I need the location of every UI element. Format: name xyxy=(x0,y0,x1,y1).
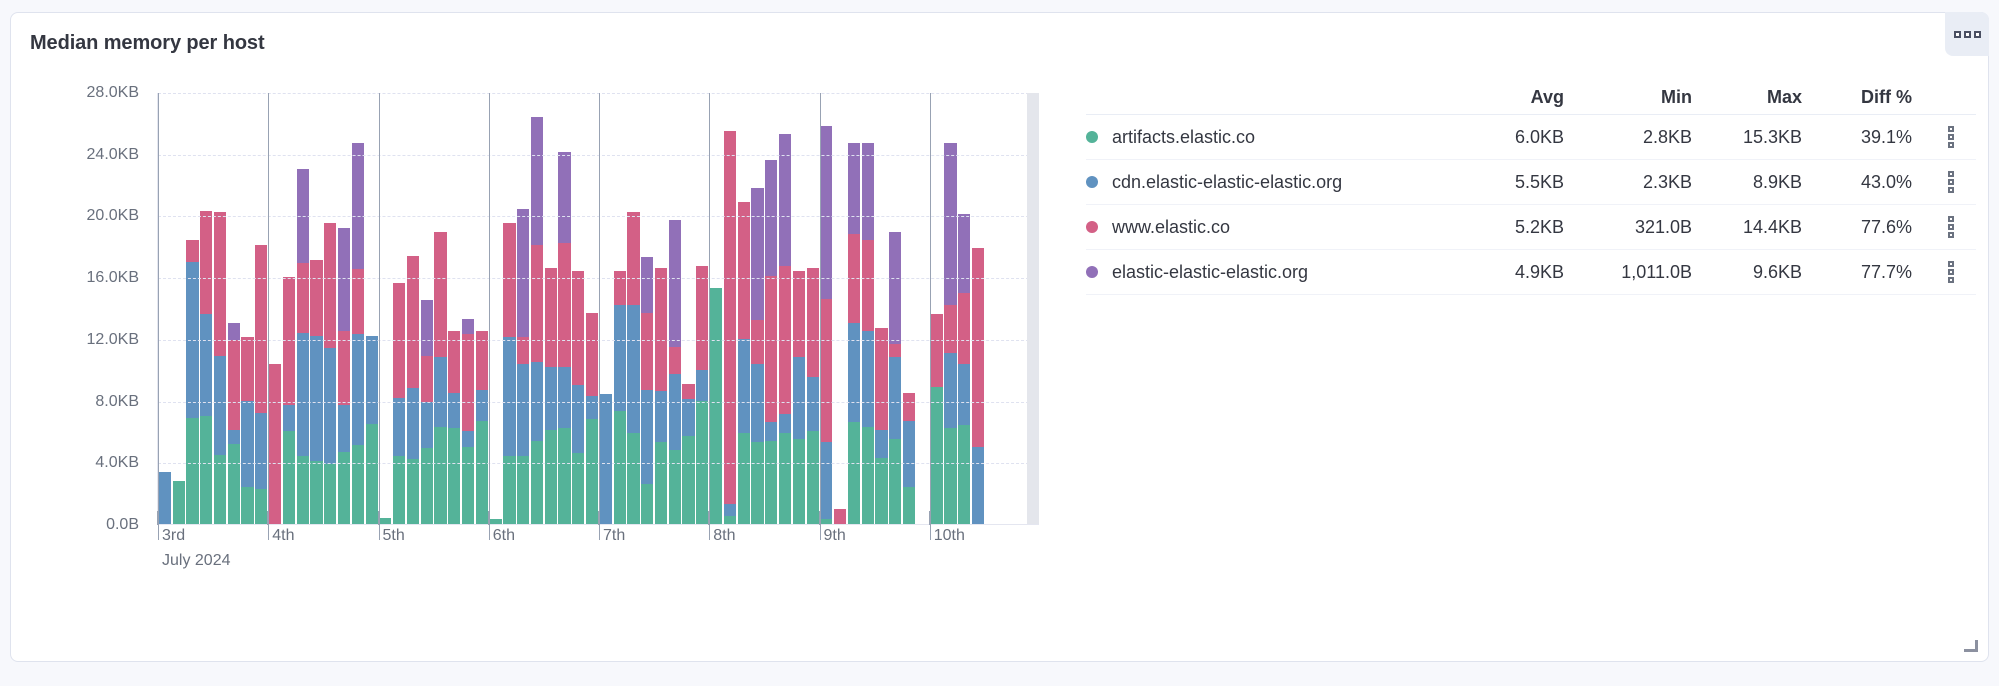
x-axis-tick-mark xyxy=(819,511,820,525)
drag-handle-dot xyxy=(1948,216,1954,222)
bar-segment xyxy=(200,211,212,314)
legend-avg-value: 5.2KB xyxy=(1458,217,1568,238)
bar-segment xyxy=(186,418,198,524)
bar-segment xyxy=(241,487,253,524)
bar[interactable] xyxy=(476,331,488,524)
y-axis-tick-label: 24.0KB xyxy=(87,146,139,164)
bar-segment xyxy=(545,430,557,524)
bar-segment xyxy=(655,391,667,442)
bar-segment xyxy=(421,448,433,524)
plot-area[interactable] xyxy=(157,93,1039,525)
bar-segment xyxy=(627,433,639,524)
bar[interactable] xyxy=(903,393,915,524)
bar-segment xyxy=(214,455,226,524)
bar-segment xyxy=(297,456,309,524)
bar-segment xyxy=(641,390,653,484)
legend-max-value: 8.9KB xyxy=(1696,172,1806,193)
bar-segment xyxy=(324,348,336,464)
bar[interactable] xyxy=(352,143,364,524)
x-axis-tick-label: 7th xyxy=(598,527,625,545)
legend-series-name-cell[interactable]: artifacts.elastic.co xyxy=(1086,127,1458,148)
bar[interactable] xyxy=(572,271,584,524)
x-axis-tick-label: 5th xyxy=(378,527,405,545)
bar-segment xyxy=(586,396,598,419)
legend-color-dot xyxy=(1086,176,1098,188)
bar-segment xyxy=(641,313,653,390)
legend-diff-value: 39.1% xyxy=(1806,127,1916,148)
bar[interactable] xyxy=(627,212,639,524)
bar[interactable] xyxy=(366,336,378,524)
legend-min-value: 1,011.0B xyxy=(1568,262,1696,283)
bar-segment xyxy=(269,364,281,524)
drag-handle-dot xyxy=(1948,224,1954,230)
drag-handle-dot xyxy=(1948,171,1954,177)
bar-segment xyxy=(407,256,419,389)
day-separator xyxy=(158,93,159,540)
bar[interactable] xyxy=(393,283,405,524)
bar-segment xyxy=(958,293,970,364)
bar-segment xyxy=(931,387,943,524)
bar-segment xyxy=(738,433,750,524)
bar-segment xyxy=(531,441,543,524)
bar-segment xyxy=(186,240,198,262)
legend-series-name-cell[interactable]: cdn.elastic-elastic-elastic.org xyxy=(1086,172,1458,193)
day-separator xyxy=(268,93,269,540)
drag-handle-icon[interactable] xyxy=(1948,171,1954,193)
day-separator xyxy=(379,93,380,540)
bar-segment xyxy=(517,337,529,363)
bar[interactable] xyxy=(517,209,529,524)
legend-diff-value: 43.0% xyxy=(1806,172,1916,193)
panel-context-menu-button[interactable] xyxy=(1945,12,1989,56)
bar-segment xyxy=(958,364,970,426)
legend-grip-cell[interactable] xyxy=(1916,261,1986,283)
legend-grip-cell[interactable] xyxy=(1916,216,1986,238)
bar-segment xyxy=(476,390,488,421)
legend-series-label: artifacts.elastic.co xyxy=(1112,127,1255,148)
bar-segment xyxy=(820,519,832,524)
legend-color-dot xyxy=(1086,266,1098,278)
legend-header-min[interactable]: Min xyxy=(1568,87,1696,108)
bar[interactable] xyxy=(875,328,887,524)
bar[interactable] xyxy=(848,143,860,524)
legend-min-value: 321.0B xyxy=(1568,217,1696,238)
bar-segment xyxy=(572,385,584,453)
bar[interactable] xyxy=(931,314,943,524)
bar-segment xyxy=(696,401,708,524)
legend-row[interactable]: artifacts.elastic.co6.0KB2.8KB15.3KB39.1… xyxy=(1086,115,1976,160)
chart-container[interactable]: 28.0KB24.0KB20.0KB16.0KB12.0KB8.0KB4.0KB… xyxy=(29,65,1079,635)
bar[interactable] xyxy=(944,143,956,524)
bar-segment xyxy=(696,370,708,401)
bar[interactable] xyxy=(324,223,336,524)
bar-segment xyxy=(614,305,626,411)
legend-header-avg[interactable]: Avg xyxy=(1458,87,1568,108)
bar-segment xyxy=(669,220,681,347)
bar-segment xyxy=(531,117,543,245)
bar[interactable] xyxy=(255,245,267,524)
bar-segment xyxy=(944,428,956,524)
x-axis-tick-mark xyxy=(929,511,930,525)
bar-segment xyxy=(682,436,694,524)
bar[interactable] xyxy=(724,131,736,524)
bar-segment xyxy=(724,516,736,524)
x-axis-tick-label: 4th xyxy=(267,527,294,545)
bar-segment xyxy=(682,384,694,399)
x-axis-tick-label: 10th xyxy=(929,527,965,545)
visualization-panel: Median memory per host 28.0KB24.0KB20.0K… xyxy=(10,12,1989,662)
bar-segment xyxy=(614,271,626,305)
bar-segment xyxy=(751,320,763,363)
bar-segment xyxy=(848,323,860,422)
bar-segment xyxy=(724,131,736,504)
bar-segment xyxy=(807,268,819,378)
y-axis-tick-label: 12.0KB xyxy=(87,331,139,349)
bar-segment xyxy=(558,152,570,243)
bar-segment xyxy=(159,472,171,524)
bar-segment xyxy=(793,271,805,357)
legend-row[interactable]: www.elastic.co5.2KB321.0B14.4KB77.6% xyxy=(1086,205,1976,250)
legend-series-label: cdn.elastic-elastic-elastic.org xyxy=(1112,172,1342,193)
bar-segment xyxy=(558,428,570,524)
drag-handle-dot xyxy=(1948,187,1954,193)
x-axis-tick-mark xyxy=(598,511,599,525)
bar[interactable] xyxy=(490,519,502,524)
bar-segment xyxy=(200,416,212,524)
legend-series-label: elastic-elastic-elastic.org xyxy=(1112,262,1308,283)
ellipsis-horizontal-icon xyxy=(1974,31,1981,38)
y-axis-tick-label: 20.0KB xyxy=(87,207,139,225)
legend-grip-cell[interactable] xyxy=(1916,171,1986,193)
bar[interactable] xyxy=(407,256,419,524)
bar-segment xyxy=(958,425,970,524)
day-separator xyxy=(489,93,490,540)
legend-header-max[interactable]: Max xyxy=(1696,87,1806,108)
bar[interactable] xyxy=(807,268,819,524)
bar-segment xyxy=(324,464,336,524)
bar[interactable] xyxy=(779,134,791,524)
bar-segment xyxy=(503,456,515,524)
bar-segment xyxy=(283,431,295,524)
bar-segment xyxy=(421,356,433,402)
bar-segment xyxy=(228,340,240,429)
bar-segment xyxy=(393,398,405,457)
bar[interactable] xyxy=(297,169,309,524)
x-axis-tick-mark xyxy=(267,511,268,525)
bar[interactable] xyxy=(958,214,970,524)
day-separator xyxy=(599,93,600,540)
bar[interactable] xyxy=(696,266,708,524)
day-separator xyxy=(930,93,931,540)
y-axis-tick-label: 4.0KB xyxy=(95,454,139,472)
bar[interactable] xyxy=(448,331,460,524)
x-axis-tick-label: 8th xyxy=(708,527,735,545)
legend-max-value: 15.3KB xyxy=(1696,127,1806,148)
bar-segment xyxy=(586,419,598,524)
bar-segment xyxy=(297,333,309,456)
bar-segment xyxy=(338,228,350,331)
bar-segment xyxy=(696,266,708,369)
bar[interactable] xyxy=(820,126,832,524)
bar-segment xyxy=(793,439,805,524)
bar[interactable] xyxy=(186,240,198,524)
bar[interactable] xyxy=(641,257,653,524)
bar-segment xyxy=(669,374,681,450)
bar-segment xyxy=(765,441,777,524)
legend-rows: artifacts.elastic.co6.0KB2.8KB15.3KB39.1… xyxy=(1086,115,1976,295)
bar-segment xyxy=(751,442,763,524)
legend-row[interactable]: elastic-elastic-elastic.org4.9KB1,011.0B… xyxy=(1086,250,1976,295)
bar-segment xyxy=(669,450,681,524)
bar-segment xyxy=(310,461,322,524)
x-axis-title: July 2024 xyxy=(157,552,231,570)
bar-segment xyxy=(972,447,984,524)
bar-segment xyxy=(765,276,777,423)
legend-diff-value: 77.6% xyxy=(1806,217,1916,238)
bar-segment xyxy=(366,336,378,424)
drag-handle-dot xyxy=(1948,277,1954,283)
drag-handle-dot xyxy=(1948,261,1954,267)
bar-segment xyxy=(255,413,267,489)
bar-segment xyxy=(820,126,832,299)
bar-segment xyxy=(476,421,488,524)
x-axis-tick-label: 3rd xyxy=(157,527,185,545)
drag-handle-icon[interactable] xyxy=(1948,261,1954,283)
bar[interactable] xyxy=(793,271,805,524)
bar-segment xyxy=(655,268,667,391)
bar-segment xyxy=(820,299,832,442)
bar-segment xyxy=(779,134,791,267)
bar-segment xyxy=(531,245,543,362)
bar-segment xyxy=(903,487,915,524)
bar-segment xyxy=(586,313,598,396)
bar-segment xyxy=(517,364,529,457)
legend-color-dot xyxy=(1086,131,1098,143)
dashboard-panel-root: Median memory per host 28.0KB24.0KB20.0K… xyxy=(0,0,1999,686)
bar-segment xyxy=(862,427,874,524)
bar-segment xyxy=(779,414,791,433)
bar[interactable] xyxy=(214,212,226,524)
bar-segment xyxy=(903,393,915,421)
bar[interactable] xyxy=(228,323,240,524)
panel-resize-handle[interactable] xyxy=(1964,638,1978,652)
bar-segment xyxy=(448,393,460,428)
drag-handle-dot xyxy=(1948,232,1954,238)
bar-segment xyxy=(434,427,446,524)
x-axis: July 2024 3rd4th5th6th7th8th9th10th xyxy=(157,525,1039,585)
bar[interactable] xyxy=(379,518,391,524)
ellipsis-horizontal-icon xyxy=(1964,31,1971,38)
y-axis-tick-label: 8.0KB xyxy=(95,393,139,411)
drag-handle-icon[interactable] xyxy=(1948,216,1954,238)
bar[interactable] xyxy=(682,384,694,524)
bar-segment xyxy=(324,223,336,348)
y-axis-tick-label: 16.0KB xyxy=(87,269,139,287)
day-separator xyxy=(709,93,710,540)
bar-segment xyxy=(255,245,267,413)
bar-segment xyxy=(875,458,887,524)
bar[interactable] xyxy=(434,232,446,524)
bar-segment xyxy=(297,263,309,332)
legend-avg-value: 5.5KB xyxy=(1458,172,1568,193)
bar-segment xyxy=(352,334,364,445)
bar-segment xyxy=(241,337,253,400)
y-axis-tick-label: 28.0KB xyxy=(87,84,139,102)
bar-segment xyxy=(807,431,819,524)
panel-header: Median memory per host xyxy=(11,13,1988,65)
bar[interactable] xyxy=(765,160,777,524)
legend-min-value: 2.3KB xyxy=(1568,172,1696,193)
y-axis: 28.0KB24.0KB20.0KB16.0KB12.0KB8.0KB4.0KB… xyxy=(29,65,147,565)
bar-segment xyxy=(214,356,226,455)
x-axis-tick-mark xyxy=(488,511,489,525)
ellipsis-horizontal-icon xyxy=(1954,31,1961,38)
bar-segment xyxy=(572,271,584,385)
partial-bucket-overlay xyxy=(1027,93,1039,524)
legend-avg-value: 4.9KB xyxy=(1458,262,1568,283)
legend-max-value: 14.4KB xyxy=(1696,217,1806,238)
bar-segment xyxy=(765,160,777,276)
bar-segment xyxy=(944,143,956,305)
drag-handle-dot xyxy=(1948,142,1954,148)
bar-segment xyxy=(255,489,267,524)
legend-series-name-cell[interactable]: www.elastic.co xyxy=(1086,217,1458,238)
bar-segment xyxy=(820,442,832,519)
drag-handle-dot xyxy=(1948,269,1954,275)
bar-segment xyxy=(421,402,433,448)
bar-segment xyxy=(462,431,474,446)
bar[interactable] xyxy=(269,364,281,524)
bar-segment xyxy=(862,331,874,427)
bar-segment xyxy=(503,223,515,337)
legend-diff-value: 77.7% xyxy=(1806,262,1916,283)
y-axis-tick-label: 0.0B xyxy=(106,516,139,534)
bar[interactable] xyxy=(862,143,874,524)
x-axis-tick-mark xyxy=(378,511,379,525)
bar-segment xyxy=(558,243,570,366)
bar[interactable] xyxy=(972,248,984,524)
legend-row[interactable]: cdn.elastic-elastic-elastic.org5.5KB2.3K… xyxy=(1086,160,1976,205)
bar-segment xyxy=(862,240,874,331)
bar[interactable] xyxy=(586,313,598,524)
legend-series-name-cell[interactable]: elastic-elastic-elastic.org xyxy=(1086,262,1458,283)
bar-segment xyxy=(214,212,226,355)
bar-segment xyxy=(779,433,791,524)
bar-segment xyxy=(448,428,460,524)
bar-segment xyxy=(434,232,446,357)
bar-segment xyxy=(627,212,639,305)
bar-segment xyxy=(710,288,722,524)
bar-segment xyxy=(862,143,874,240)
bar[interactable] xyxy=(614,271,626,524)
bar-segment xyxy=(228,430,240,444)
bar[interactable] xyxy=(421,300,433,524)
bar[interactable] xyxy=(503,223,515,524)
bar[interactable] xyxy=(655,268,667,524)
bar[interactable] xyxy=(710,288,722,524)
bar-segment xyxy=(490,519,502,524)
bar[interactable] xyxy=(751,188,763,524)
bar-segment xyxy=(669,347,681,375)
bar-segment xyxy=(283,405,295,431)
bar-segment xyxy=(310,260,322,336)
bar-segment xyxy=(875,328,887,430)
bar-segment xyxy=(434,357,446,426)
bar-segment xyxy=(283,277,295,405)
bar-segment xyxy=(641,257,653,313)
legend-series-label: www.elastic.co xyxy=(1112,217,1230,238)
bar-segment xyxy=(738,339,750,433)
bar-segment xyxy=(545,367,557,430)
bar-segment xyxy=(228,444,240,524)
bar-segment xyxy=(682,399,694,436)
bar-segment xyxy=(338,331,350,405)
legend-min-value: 2.8KB xyxy=(1568,127,1696,148)
bar-segment xyxy=(517,456,529,524)
bar-segment xyxy=(627,305,639,433)
bar-segment xyxy=(407,459,419,524)
bar[interactable] xyxy=(310,260,322,524)
bar-segment xyxy=(889,232,901,343)
bar-segment xyxy=(241,401,253,487)
bar-segment xyxy=(751,364,763,443)
legend-avg-value: 6.0KB xyxy=(1458,127,1568,148)
bar-segment xyxy=(793,357,805,439)
drag-handle-dot xyxy=(1948,134,1954,140)
bar[interactable] xyxy=(241,337,253,524)
bar-segment xyxy=(310,336,322,461)
bar-segment xyxy=(848,422,860,524)
bar[interactable] xyxy=(889,232,901,524)
bar-segment xyxy=(958,214,970,293)
bar[interactable] xyxy=(545,268,557,524)
bar[interactable] xyxy=(600,394,612,524)
bar-segment xyxy=(338,405,350,451)
bar-segment xyxy=(379,518,391,524)
bar-segment xyxy=(352,143,364,270)
bar[interactable] xyxy=(173,481,185,524)
bar-segment xyxy=(724,504,736,516)
legend-color-dot xyxy=(1086,221,1098,233)
legend-grip-cell[interactable] xyxy=(1916,126,1986,148)
bar[interactable] xyxy=(338,228,350,524)
legend-header-diff[interactable]: Diff % xyxy=(1806,87,1916,108)
bar[interactable] xyxy=(738,202,750,524)
bar[interactable] xyxy=(462,319,474,524)
bar[interactable] xyxy=(159,472,171,524)
x-axis-tick-label: 9th xyxy=(819,527,846,545)
bar-segment xyxy=(889,344,901,358)
drag-handle-icon[interactable] xyxy=(1948,126,1954,148)
bar-segment xyxy=(944,353,956,429)
bar-segment xyxy=(738,202,750,339)
bar-segment xyxy=(173,481,185,524)
legend-header-row: Avg Min Max Diff % xyxy=(1086,81,1976,115)
bar-segment xyxy=(366,424,378,524)
bar-segment xyxy=(875,430,887,458)
bar-segment xyxy=(462,334,474,431)
bar[interactable] xyxy=(200,211,212,524)
bar-segment xyxy=(903,421,915,487)
panel-title: Median memory per host xyxy=(30,32,265,55)
bar-segment xyxy=(352,445,364,524)
bar-segment xyxy=(393,456,405,524)
bar-segment xyxy=(807,377,819,431)
bar[interactable] xyxy=(834,509,846,524)
bar[interactable] xyxy=(669,220,681,524)
bar[interactable] xyxy=(558,152,570,524)
bar-segment xyxy=(462,319,474,334)
